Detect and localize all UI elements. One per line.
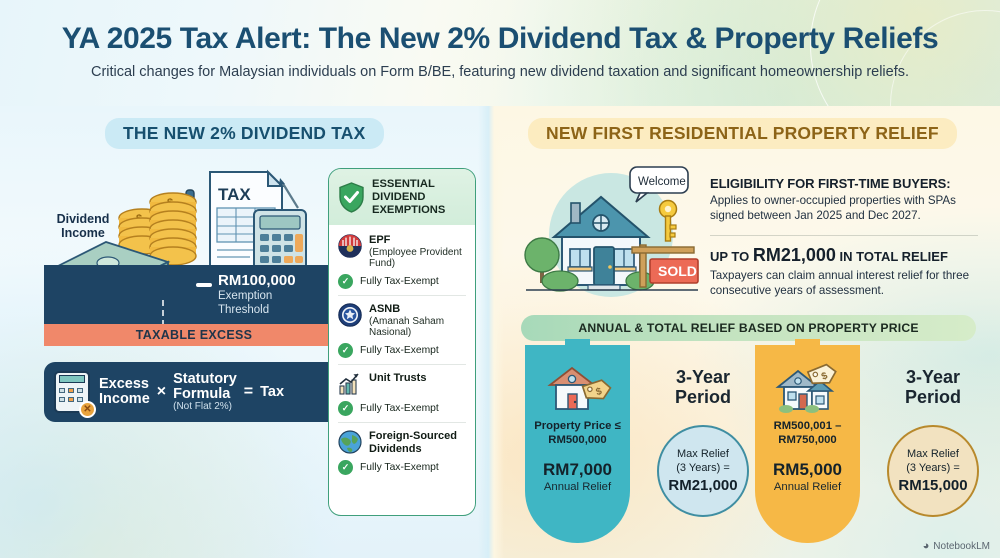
exemption-name: ASNB (369, 303, 466, 316)
list-item: ASNB (Amanah Saham Nasional) ✓ Fully Tax… (338, 296, 466, 365)
tier-price-label: Property Price ≤ RM500,000 (525, 420, 630, 447)
tax-formula-box: ✕ Excess Income × Statutory Formula (Not… (44, 362, 344, 422)
infographic-page: YA 2025 Tax Alert: The New 2% Dividend T… (0, 0, 1000, 558)
bar-chart-growth-icon (338, 372, 362, 396)
max-relief-label: Max Relief(3 Years) = (676, 448, 730, 474)
exemption-status: Fully Tax-Exempt (360, 403, 439, 414)
exemption-name: EPF (369, 234, 466, 247)
total-relief-amount: RM21,000 (753, 245, 836, 265)
exemption-status: Fully Tax-Exempt (360, 462, 439, 473)
header-background (0, 0, 1000, 112)
relief-banner: ANNUAL & TOTAL RELIEF BASED ON PROPERTY … (521, 315, 976, 341)
total-relief-body: Taxpayers can claim annual interest reli… (710, 268, 982, 299)
formula-equals-operator: = (244, 383, 253, 401)
threshold-amount: RM100,000 (218, 272, 296, 289)
tier-annual-label: Annual Relief (525, 481, 630, 493)
footer-brand: ◕ NotebookLM (923, 540, 990, 552)
formula-term-excess-income: Excess (99, 377, 150, 392)
relief-tier-card-2: $ RM500,001 – RM750,000 RM5,000 Annual R… (755, 345, 860, 543)
formula-note: (Not Flat 2%) (173, 402, 237, 413)
threshold-divider-line (162, 300, 164, 326)
tier-annual-label: Annual Relief (755, 481, 860, 493)
house-price-tag-icon: $ (542, 361, 614, 415)
tier-annual-amount: RM7,000 (525, 460, 630, 480)
exemptions-card-header: ESSENTIALDIVIDENDEXEMPTIONS (329, 169, 475, 225)
asnb-logo-icon (338, 303, 362, 327)
shield-check-icon (338, 182, 365, 213)
tier-annual-amount: RM5,000 (755, 460, 860, 480)
section-heading-property: NEW FIRST RESIDENTIAL PROPERTY RELIEF (528, 118, 957, 149)
max-relief-amount: RM21,000 (668, 477, 737, 494)
multiply-badge-icon: ✕ (79, 401, 96, 418)
check-icon: ✓ (338, 343, 353, 358)
globe-icon (338, 430, 362, 454)
essential-exemptions-card: ESSENTIALDIVIDENDEXEMPTIONS (328, 168, 476, 516)
check-icon: ✓ (338, 460, 353, 475)
list-item: EPF (Employee Provident Fund) ✓ Fully Ta… (338, 227, 466, 296)
exemptions-list: EPF (Employee Provident Fund) ✓ Fully Ta… (329, 225, 475, 487)
relief-tier-card-1: $ Property Price ≤ RM500,000 RM7,000 Ann… (525, 345, 630, 543)
eligibility-body: Applies to owner-occupied properties wit… (710, 193, 982, 224)
total-relief-prefix: UP TO (710, 249, 753, 264)
card-tab (565, 339, 590, 351)
threshold-label: ExemptionThreshold (218, 290, 272, 317)
exemption-subtitle: (Amanah Saham Nasional) (369, 316, 466, 338)
taxable-excess-label: TAXABLE EXCESS (136, 328, 253, 342)
calculator-icon: ✕ (54, 371, 90, 413)
svg-text:SOLD: SOLD (658, 263, 697, 279)
divider (710, 235, 978, 236)
formula-term-statutory: Statutory (173, 372, 237, 387)
house-price-tag-icon: $ (772, 361, 844, 415)
eligibility-block: ELIGIBILITY FOR FIRST-TIME BUYERS: Appli… (710, 176, 982, 299)
tier-price-label: RM500,001 – RM750,000 (755, 420, 860, 447)
relief-banner-label: ANNUAL & TOTAL RELIEF BASED ON PROPERTY … (578, 321, 918, 335)
notebooklm-logo-icon: ◕ (923, 540, 930, 552)
threshold-marker-icon (196, 283, 212, 287)
formula-result: Tax (260, 384, 284, 400)
house-illustration: Welcome (516, 163, 706, 311)
exemption-name: Foreign-Sourced Dividends (369, 430, 466, 456)
exemption-name: Unit Trusts (369, 372, 426, 385)
section-heading-dividend: THE NEW 2% DIVIDEND TAX (105, 118, 384, 149)
tier-max-relief-circle-2: Max Relief(3 Years) = RM15,000 (887, 425, 979, 517)
svg-text:TAX: TAX (218, 185, 251, 204)
epf-logo-icon (338, 234, 362, 258)
exemption-status: Fully Tax-Exempt (360, 276, 439, 287)
exemptions-card-title: ESSENTIALDIVIDENDEXEMPTIONS (372, 178, 445, 216)
dividend-income-label: Dividend Income (38, 212, 128, 241)
total-relief-suffix: IN TOTAL RELIEF (836, 249, 948, 264)
max-relief-amount: RM15,000 (898, 477, 967, 494)
card-tab (795, 339, 820, 351)
eligibility-heading: ELIGIBILITY FOR FIRST-TIME BUYERS: (710, 176, 982, 191)
footer-brand-label: NotebookLM (933, 541, 990, 552)
check-icon: ✓ (338, 274, 353, 289)
check-icon: ✓ (338, 401, 353, 416)
panel-divider (478, 106, 504, 558)
taxable-excess-band: TAXABLE EXCESS (44, 324, 344, 346)
tier-max-relief-circle-1: Max Relief(3 Years) = RM21,000 (657, 425, 749, 517)
list-item: Unit Trusts ✓ Fully Tax-Exempt (338, 365, 466, 423)
total-relief-heading: UP TO RM21,000 IN TOTAL RELIEF (710, 245, 982, 266)
exemption-subtitle: (Employee Provident Fund) (369, 247, 466, 269)
svg-text:Welcome: Welcome (638, 176, 686, 188)
page-subtitle: Critical changes for Malaysian individua… (0, 64, 1000, 80)
max-relief-label: Max Relief(3 Years) = (906, 448, 960, 474)
formula-multiply-operator: × (157, 383, 166, 401)
exemption-threshold-band (44, 265, 344, 324)
tier-period-label-2: 3-YearPeriod (878, 368, 988, 408)
exemption-status: Fully Tax-Exempt (360, 345, 439, 356)
list-item: Foreign-Sourced Dividends ✓ Fully Tax-Ex… (338, 423, 466, 482)
tier-period-label-1: 3-YearPeriod (648, 368, 758, 408)
page-title: YA 2025 Tax Alert: The New 2% Dividend T… (0, 22, 1000, 56)
